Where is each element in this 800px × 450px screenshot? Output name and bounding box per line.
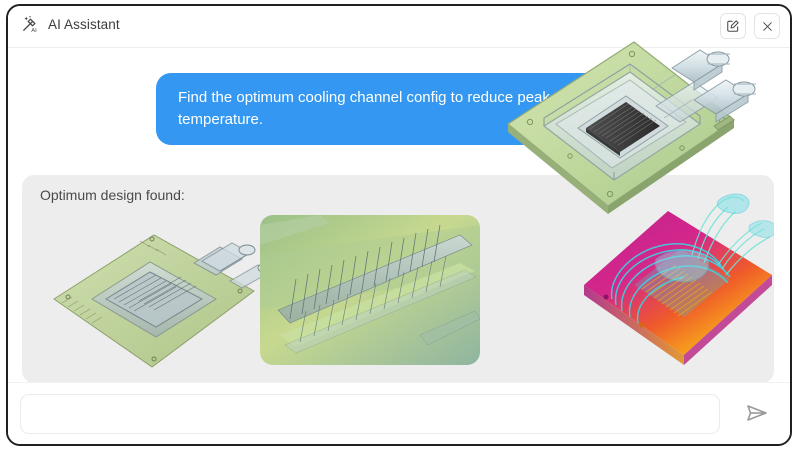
chat-area: Find the optimum cooling channel config … [8,48,790,386]
ai-assistant-window: AI AI Assistant [6,4,792,446]
assistant-response-label: Optimum design found: [40,187,185,203]
svg-text:AI: AI [31,28,37,34]
window-header: AI AI Assistant [8,6,790,48]
user-message-bubble: Find the optimum cooling channel config … [156,73,608,145]
wireframe-cooling-block-image [36,205,266,375]
assistant-response-card: Optimum design found: [22,175,774,383]
message-composer [8,382,790,444]
edit-square-icon [726,19,740,33]
message-input[interactable] [20,394,720,434]
close-button[interactable] [754,13,780,39]
ai-wand-icon: AI [20,14,40,34]
close-icon [761,20,774,33]
cooling-channels-closeup-image [260,215,480,365]
page-title: AI Assistant [48,17,120,32]
send-paper-plane-icon [745,401,769,428]
edit-button[interactable] [720,13,746,39]
header-brand: AI AI Assistant [20,14,120,34]
header-actions [720,13,780,39]
send-button[interactable] [740,397,774,431]
thermal-cfd-result-image [570,183,774,373]
